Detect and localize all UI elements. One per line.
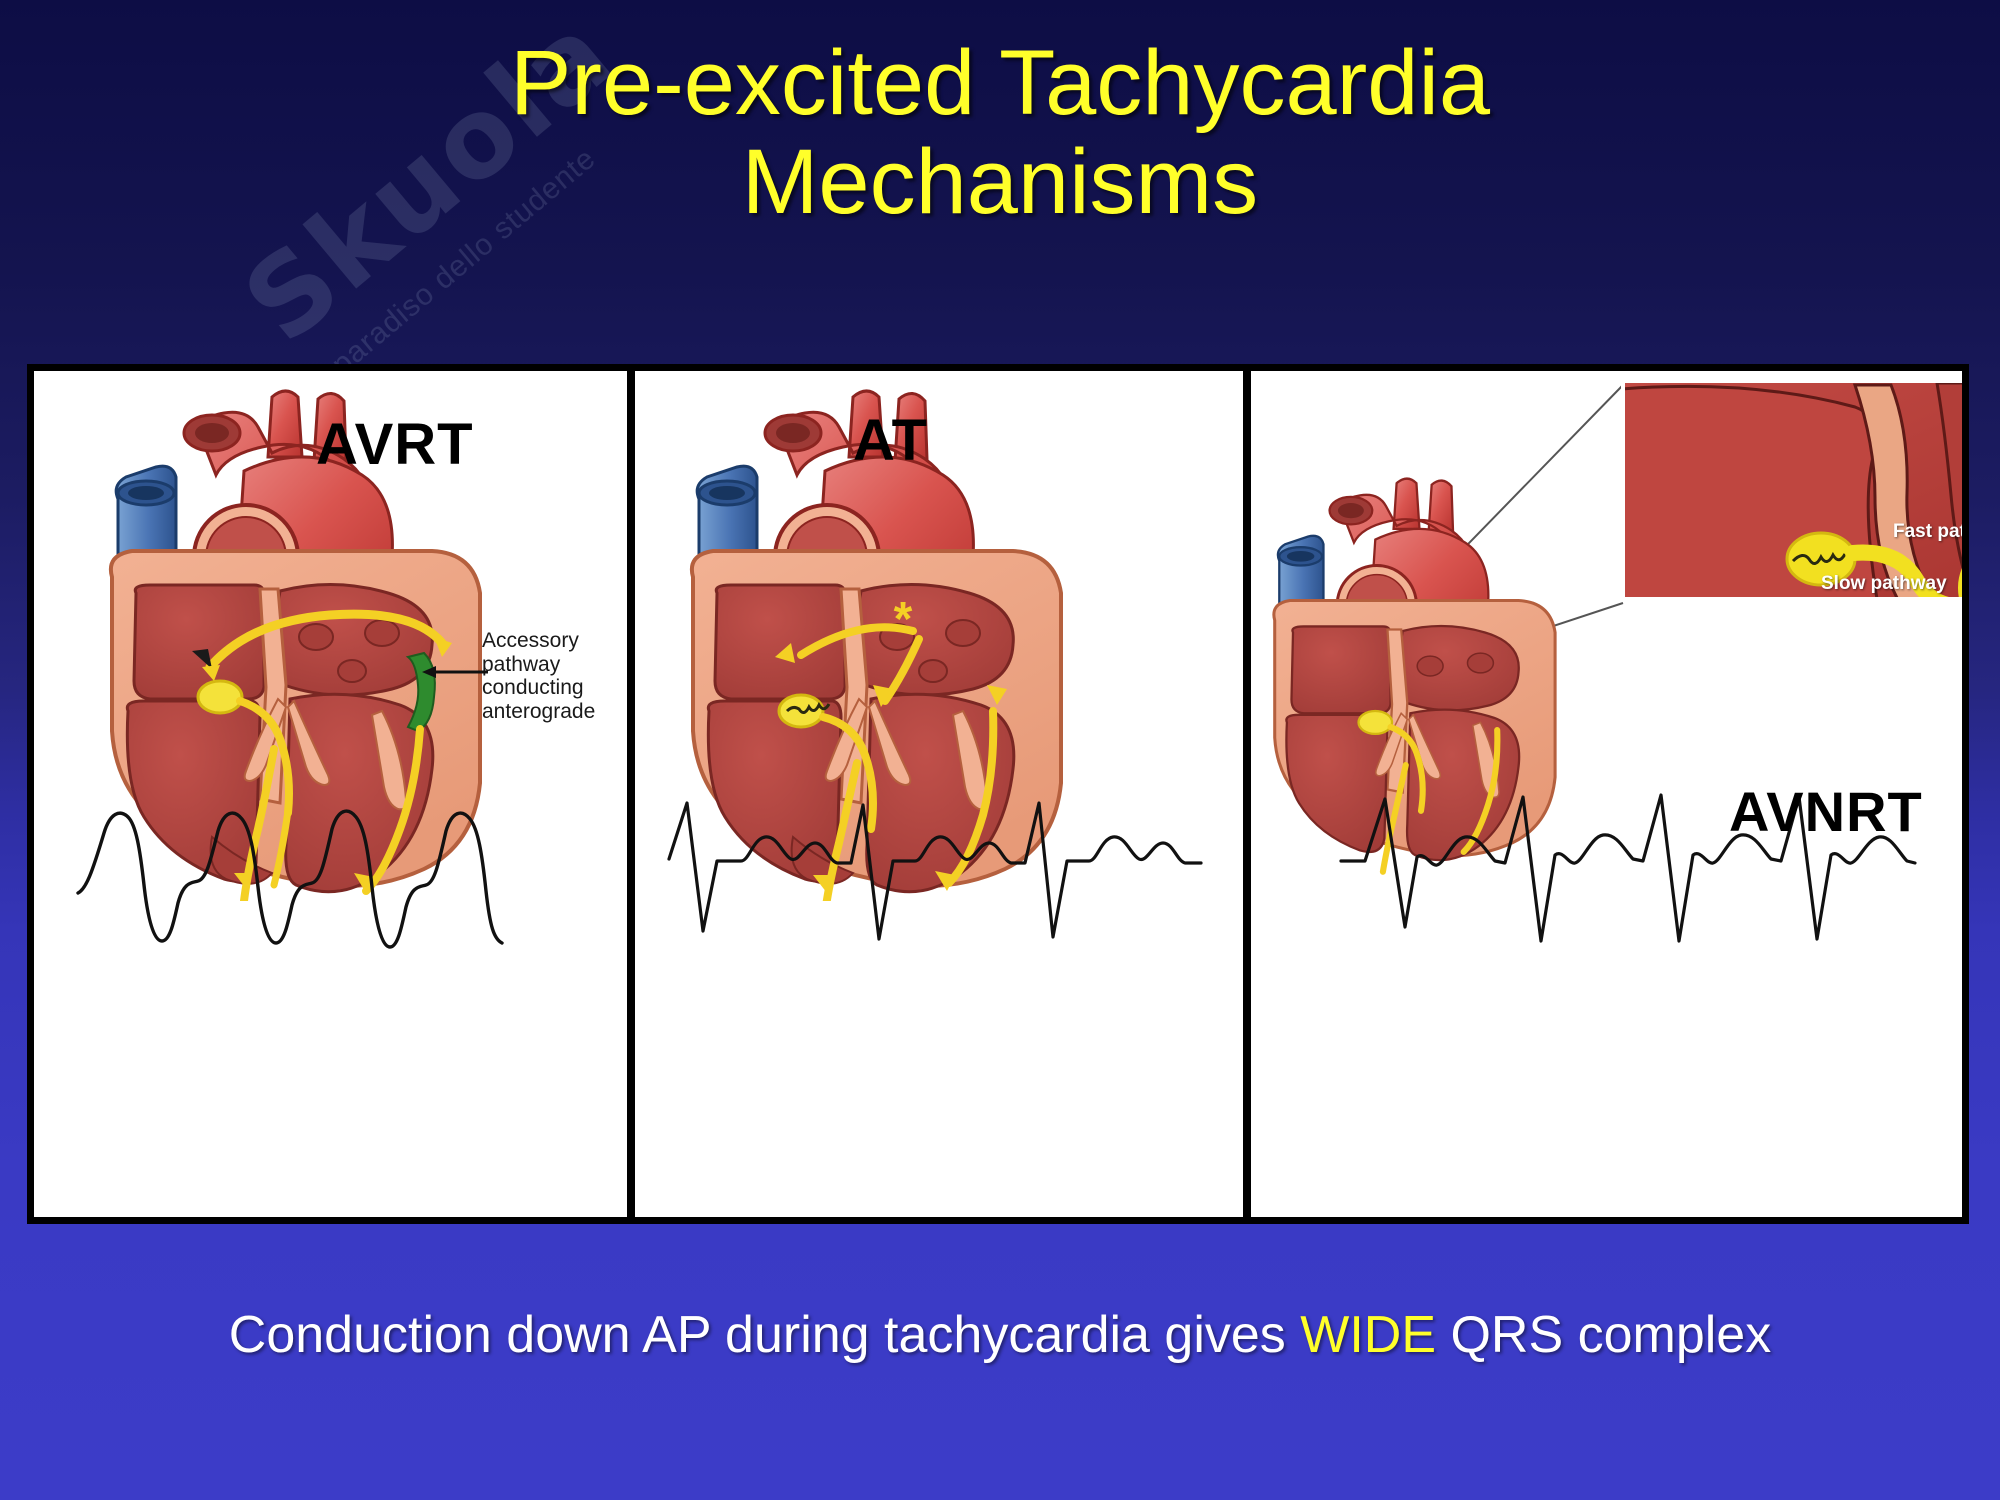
panel-avrt: AVRT — [34, 371, 627, 1217]
page-title: Pre-excited Tachycardia Mechanisms — [0, 34, 2000, 233]
panel-divider-1 — [627, 371, 635, 1217]
inset-label-fast-pathway: Fast pathway — [1893, 521, 1962, 543]
panel-at: AT — [635, 371, 1243, 1217]
callout-leader-arrow-avrt — [422, 663, 488, 681]
panel-label-avrt: AVRT — [316, 411, 474, 478]
ecg-trace-avrt — [74, 781, 594, 971]
title-line-2: Mechanisms — [0, 133, 2000, 232]
title-line-1: Pre-excited Tachycardia — [0, 34, 2000, 133]
panel-avnrt: AVNRT — [1251, 371, 1962, 1217]
panel-divider-2 — [1243, 371, 1251, 1217]
panel-label-at: AT — [853, 407, 928, 474]
caption-after: QRS complex — [1436, 1306, 1771, 1364]
slide-caption: Conduction down AP during tachycardia gi… — [0, 1305, 2000, 1365]
caption-before: Conduction down AP during tachycardia gi… — [229, 1306, 1300, 1364]
inset-label-slow-pathway: Slow pathway — [1821, 573, 1947, 595]
ecg-trace-at — [665, 781, 1205, 971]
figure-panel-group: AVRT — [27, 364, 1969, 1224]
av-node-marker — [198, 681, 242, 713]
ectopic-focus-asterisk: * — [894, 593, 913, 646]
inset-diagram — [1625, 383, 1962, 601]
callout-accessory-pathway: Accessory pathway conducting anterograde — [482, 629, 595, 723]
caption-highlight: WIDE — [1300, 1306, 1436, 1364]
panel-label-avnrt: AVNRT — [1729, 779, 1923, 844]
avnrt-inset: Fast pathway Slow pathway — [1621, 379, 1962, 601]
slide-root: Skuola il paradiso dello studente Pre-ex… — [0, 0, 2000, 1500]
